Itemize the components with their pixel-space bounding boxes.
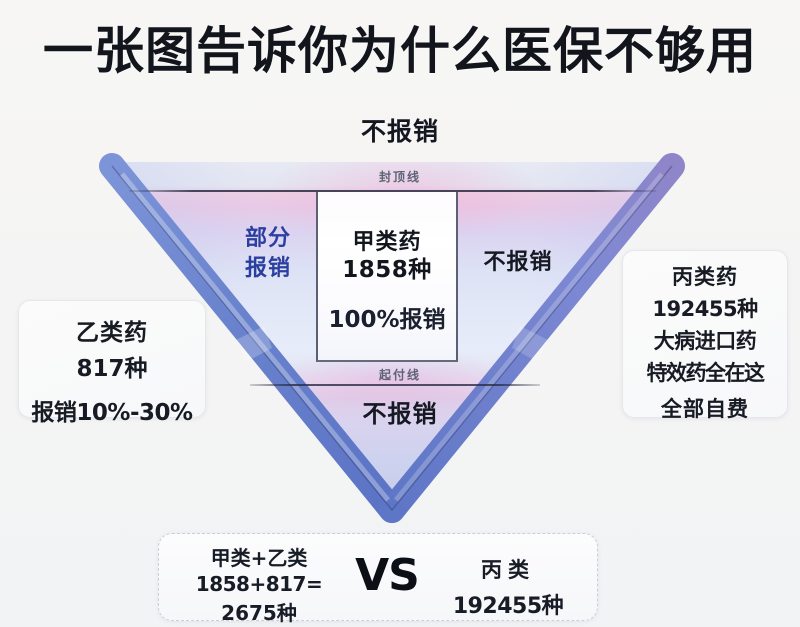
comparison-left-line2: 1858+817=: [169, 572, 349, 596]
funnel-left-zone-line1: 部分: [224, 224, 312, 254]
class-c-count: 192455种: [623, 293, 787, 323]
center-drug-count: 1858种: [318, 250, 456, 284]
funnel-center-column: 甲类药 1858种 100%报销: [316, 192, 458, 362]
comparison-right: 丙类 192455种: [425, 554, 591, 620]
page-title: 一张图告诉你为什么医保不够用: [0, 22, 800, 80]
comparison-left: 甲类+乙类 1858+817= 2675种: [169, 542, 349, 626]
funnel-top-label: 不报销: [0, 112, 800, 148]
comparison-right-line1: 丙类: [425, 554, 591, 584]
comparison-left-line1: 甲类+乙类: [169, 542, 349, 571]
class-c-title: 丙类药: [623, 261, 787, 291]
class-b-title: 乙类药: [19, 313, 205, 347]
comparison-vs-label: VS: [349, 550, 425, 601]
comparison-left-line3: 2675种: [169, 597, 349, 626]
callout-card-class-b: 乙类药 817种 报销10%-30%: [18, 300, 206, 418]
class-b-count: 817种: [19, 349, 205, 383]
deductible-line-rule: [250, 384, 540, 386]
funnel-left-zone-line2: 报销: [224, 254, 312, 284]
comparison-card: 甲类+乙类 1858+817= 2675种 VS 丙类 192455种: [158, 533, 598, 621]
class-c-note-1: 大病进口药: [623, 325, 787, 355]
funnel-right-zone-label: 不报销: [462, 244, 574, 276]
callout-card-class-c: 丙类药 192455种 大病进口药 特效药全在这 全部自费: [622, 250, 788, 418]
center-coverage-rate: 100%报销: [318, 300, 456, 334]
class-b-reimbursement: 报销10%-30%: [19, 393, 205, 427]
funnel-left-zone-label: 部分 报销: [224, 224, 312, 284]
comparison-right-line2: 192455种: [425, 588, 591, 620]
class-c-note-3: 全部自费: [623, 393, 787, 423]
class-c-note-2: 特效药全在这: [623, 357, 787, 387]
infographic-canvas: 一张图告诉你为什么医保不够用 不报销: [0, 0, 800, 627]
ceiling-line-label: 封顶线: [0, 168, 800, 185]
